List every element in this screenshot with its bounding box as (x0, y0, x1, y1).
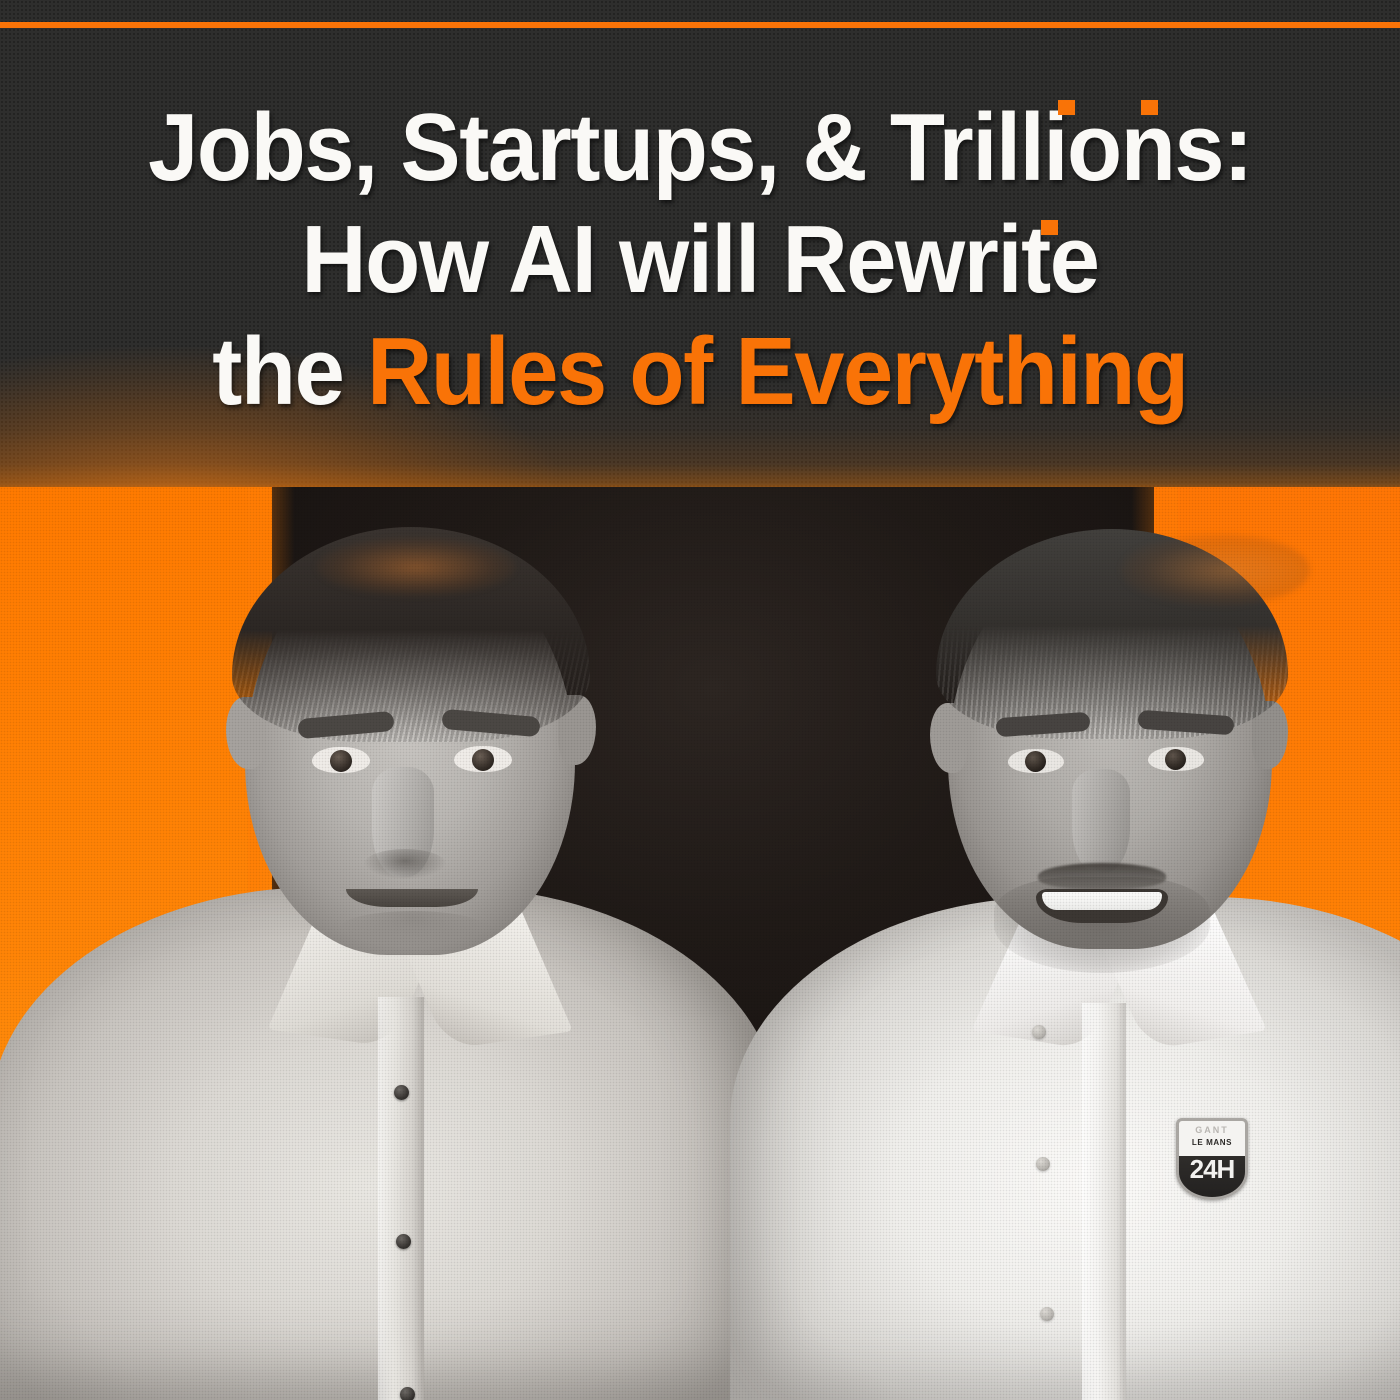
title-header: Jobs, Startups, & Trillions: How AI will… (0, 0, 1400, 487)
guest-right-nose (1072, 769, 1130, 873)
guest-left-mouth (346, 889, 478, 907)
guest-right-teeth (1042, 892, 1162, 910)
shirt-button (1032, 1025, 1046, 1039)
guest-right-mouth (1036, 889, 1168, 923)
badge-line2-text: LE MANS (1176, 1138, 1248, 1147)
guest-left-chin-shadow (338, 911, 488, 947)
shirt-button (1036, 1157, 1050, 1171)
podcast-episode-cover: Jobs, Startups, & Trillions: How AI will… (0, 0, 1400, 1400)
title-line-3: the Rules of Everything (42, 316, 1358, 428)
shirt-button (394, 1085, 409, 1100)
title-line-1: Jobs, Startups, & Trillions: (42, 92, 1358, 204)
title-line-3-highlight: Rules of Everything (367, 318, 1188, 425)
guest-left-eye (312, 747, 370, 773)
shirt-button (400, 1387, 415, 1400)
guest-left-nose-shadow (364, 849, 446, 879)
guest-left-portrait (60, 497, 760, 1400)
guest-left-eye (454, 746, 512, 772)
badge-line3-text: 24H (1176, 1154, 1248, 1185)
guest-right-shirt-placket (1082, 1003, 1126, 1400)
iris (1165, 749, 1186, 770)
guest-photo-stage (0, 487, 1400, 1400)
guest-right-eye (1148, 747, 1204, 771)
iris (330, 750, 352, 772)
episode-title: Jobs, Startups, & Trillions: How AI will… (0, 92, 1400, 428)
badge-brand-text: GANT (1176, 1125, 1248, 1135)
title-line-2: How AI will Rewrite (42, 204, 1358, 316)
shirt-button (396, 1234, 411, 1249)
guest-right-eye (1008, 749, 1064, 773)
title-line-3-plain: the (212, 318, 367, 425)
iris (472, 749, 494, 771)
orange-i-dot-icon (1141, 100, 1158, 115)
orange-i-dot-icon (1058, 100, 1075, 115)
guest-left-hair-highlight (316, 537, 516, 597)
orange-i-dot-icon (1041, 220, 1058, 235)
guest-right-moustache (1038, 863, 1166, 889)
gant-le-mans-shirt-badge-icon: GANT LE MANS 24H (1176, 1118, 1248, 1200)
guest-right-portrait (700, 497, 1400, 1400)
top-accent-rule (0, 22, 1400, 28)
guest-right-hair-highlight (1120, 533, 1310, 607)
iris (1025, 751, 1046, 772)
guest-left-shirt-placket (378, 997, 424, 1400)
shirt-button (1040, 1307, 1054, 1321)
